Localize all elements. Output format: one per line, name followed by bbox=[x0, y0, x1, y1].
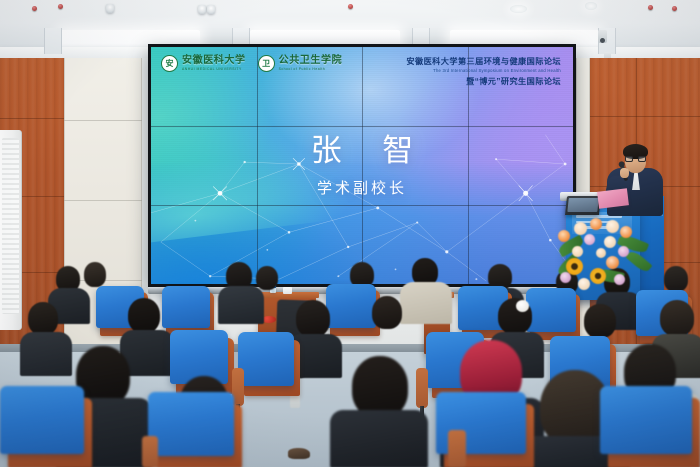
sunflower-icon bbox=[590, 268, 606, 284]
ceiling-panel-divider bbox=[44, 28, 62, 54]
speaker-role: 学术副校长 bbox=[151, 177, 573, 198]
ac-vent-grille bbox=[2, 138, 19, 314]
audience-head bbox=[664, 266, 688, 292]
shoe bbox=[288, 448, 310, 459]
audience-head bbox=[660, 300, 694, 336]
audience-head bbox=[84, 262, 106, 287]
audience-head bbox=[352, 356, 408, 418]
logo-label-cn: 安徽医科大学 bbox=[182, 56, 246, 66]
audience-body bbox=[218, 286, 264, 324]
panel-seam bbox=[64, 120, 142, 121]
chair-seat-blue bbox=[526, 288, 576, 332]
speaker-hand bbox=[620, 168, 629, 178]
logo-label-en: ANHUI MEDICAL UNIVERSITY bbox=[182, 68, 246, 71]
wood-seam bbox=[0, 118, 64, 119]
audience-body bbox=[330, 410, 428, 467]
forum-title-en: The 3rd International Symposium on Envir… bbox=[406, 68, 561, 74]
pink-document bbox=[597, 188, 629, 209]
chair-armrest bbox=[142, 436, 158, 467]
chair-seat-blue bbox=[600, 386, 692, 454]
seal-glyph: 卫 bbox=[262, 60, 270, 68]
seal-glyph: 安 bbox=[166, 60, 174, 68]
ceiling-downlight-icon bbox=[510, 5, 527, 13]
wood-seam bbox=[590, 116, 700, 117]
chair-seat-blue bbox=[326, 284, 376, 328]
audience-head bbox=[372, 296, 402, 329]
audience-head bbox=[584, 304, 616, 338]
screen-logo-row: 安 安徽医科大学 ANHUI MEDICAL UNIVERSITY 卫 公共卫生… bbox=[161, 55, 342, 72]
conference-hall-scene: 安 安徽医科大学 ANHUI MEDICAL UNIVERSITY 卫 公共卫生… bbox=[0, 0, 700, 467]
chair-armrest bbox=[448, 430, 466, 467]
chair-seat-blue bbox=[0, 386, 84, 454]
speaker-name: 张 智 bbox=[167, 125, 573, 170]
ceiling-spotlight-icon bbox=[207, 5, 215, 14]
logo-label-cn: 公共卫生学院 bbox=[279, 56, 343, 66]
audience-head bbox=[76, 346, 130, 406]
led-panel-seam bbox=[151, 205, 573, 206]
university-seal-icon: 安 bbox=[161, 55, 178, 72]
floral-arrangement bbox=[556, 212, 652, 292]
sprinkler-icon bbox=[58, 4, 63, 9]
ceiling-downlight-icon bbox=[585, 2, 597, 10]
air-conditioner-unit bbox=[0, 130, 22, 330]
school-seal-icon: 卫 bbox=[258, 55, 275, 72]
chair-seat-blue bbox=[162, 286, 210, 328]
red-object-on-shelf bbox=[262, 316, 276, 323]
paper-cup bbox=[283, 287, 292, 294]
logo-label-en: School of Public Health bbox=[279, 68, 343, 71]
sprinkler-icon bbox=[32, 6, 37, 11]
audience-body-beige bbox=[400, 282, 452, 324]
chair-armrest bbox=[416, 368, 428, 408]
ceiling-spotlight-icon bbox=[198, 5, 206, 14]
security-camera-icon bbox=[598, 30, 607, 43]
ceiling-spotlight-icon bbox=[106, 4, 114, 13]
glasses-icon bbox=[625, 156, 646, 162]
forum-title-cn: 安徽医科大学第三届环境与健康国际论坛 bbox=[406, 56, 561, 67]
screen-speaker-block: 张 智 学术副校长 bbox=[151, 125, 573, 198]
chair-seat-blue bbox=[238, 332, 294, 386]
sprinkler-icon bbox=[672, 6, 677, 11]
led-screen-content: 安 安徽医科大学 ANHUI MEDICAL UNIVERSITY 卫 公共卫生… bbox=[151, 47, 573, 284]
logo-school-of-public-health: 卫 公共卫生学院 School of Public Health bbox=[258, 55, 343, 72]
screen-header-text: 安徽医科大学第三届环境与健康国际论坛 The 3rd International… bbox=[406, 56, 561, 87]
audience-head bbox=[28, 302, 58, 335]
led-video-wall: 安 安徽医科大学 ANHUI MEDICAL UNIVERSITY 卫 公共卫生… bbox=[148, 44, 576, 287]
chair-seat-blue bbox=[148, 392, 234, 456]
audience-head bbox=[128, 298, 160, 333]
panel-seam bbox=[64, 200, 142, 201]
audience-head bbox=[256, 266, 278, 290]
audience-body bbox=[20, 332, 72, 376]
forum-subtitle-cn: 暨“博元”研究生国际论坛 bbox=[406, 76, 561, 87]
logo-anhui-medical-university: 安 安徽医科大学 ANHUI MEDICAL UNIVERSITY bbox=[161, 55, 246, 72]
sprinkler-icon bbox=[348, 4, 353, 9]
audience-head bbox=[296, 300, 330, 337]
sprinkler-icon bbox=[648, 5, 653, 10]
hair-scrunchie bbox=[516, 300, 529, 312]
